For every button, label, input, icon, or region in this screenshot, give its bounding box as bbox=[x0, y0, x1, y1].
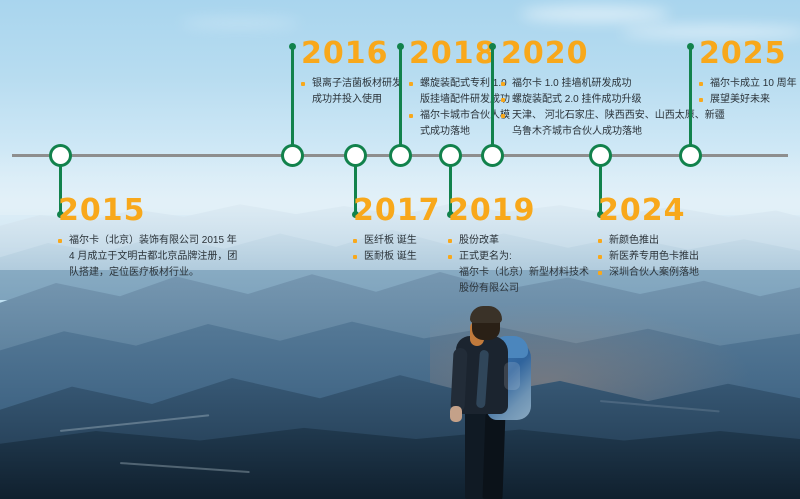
stem-2020 bbox=[491, 46, 494, 148]
list-item: 展望美好未来 bbox=[699, 92, 797, 107]
timeline-node-2019[interactable] bbox=[439, 144, 462, 167]
cloud-shape bbox=[180, 18, 300, 28]
timeline-node-2025[interactable] bbox=[679, 144, 702, 167]
bullet-list-2019: 股份改革 正式更名为: 福尔卡（北京）新型材料技术 股份有限公司 bbox=[448, 233, 589, 296]
timeline-node-2016[interactable] bbox=[281, 144, 304, 167]
list-item: 版挂墙配件研发成功 bbox=[409, 92, 510, 107]
list-item: 深圳合伙人案例落地 bbox=[598, 265, 699, 280]
event-block-2017: 2017 医纤板 诞生 医耐板 诞生 bbox=[353, 196, 441, 265]
year-label-2016: 2016 bbox=[301, 39, 402, 69]
hiker-figure bbox=[432, 300, 550, 499]
bullet-list-2015: 福尔卡（北京）装饰有限公司 2015 年 4 月成立于文明古都北京品牌注册，团 … bbox=[58, 233, 237, 280]
list-item: 医纤板 诞生 bbox=[353, 233, 441, 248]
list-item: 福尔卡（北京）新型材料技术 bbox=[448, 265, 589, 280]
hiker-leg bbox=[482, 412, 505, 499]
list-item: 正式更名为: bbox=[448, 249, 589, 264]
year-label-2019: 2019 bbox=[448, 196, 589, 226]
cloud-shape bbox=[520, 6, 670, 22]
event-block-2015: 2015 福尔卡（北京）装饰有限公司 2015 年 4 月成立于文明古都北京品牌… bbox=[58, 196, 237, 281]
list-item: 福尔卡城市合伙人模 bbox=[409, 108, 510, 123]
stem-cap-2020 bbox=[489, 43, 496, 50]
event-block-2025: 2025 福尔卡成立 10 周年 展望美好未来 bbox=[699, 39, 797, 108]
stem-cap-2018 bbox=[397, 43, 404, 50]
event-block-2016: 2016 银离子洁菌板材研发 成功并投入使用 bbox=[301, 39, 402, 108]
stem-cap-2016 bbox=[289, 43, 296, 50]
list-item: 螺旋装配式专利 1.0 bbox=[409, 76, 510, 91]
timeline-node-2015[interactable] bbox=[49, 144, 72, 167]
hiker-backpack-detail bbox=[504, 362, 520, 390]
timeline-node-2020[interactable] bbox=[481, 144, 504, 167]
year-label-2025: 2025 bbox=[699, 39, 797, 69]
timeline-infographic: 2015 福尔卡（北京）装饰有限公司 2015 年 4 月成立于文明古都北京品牌… bbox=[0, 0, 800, 499]
list-item: 福尔卡成立 10 周年 bbox=[699, 76, 797, 91]
list-item: 新颜色推出 bbox=[598, 233, 699, 248]
list-item: 股份改革 bbox=[448, 233, 589, 248]
bullet-list-2018: 螺旋装配式专利 1.0 版挂墙配件研发成功 福尔卡城市合伙人模 式成功落地 bbox=[409, 76, 510, 139]
stem-2025 bbox=[689, 46, 692, 148]
bullet-list-2024: 新颜色推出 新医养专用色卡推出 深圳合伙人案例落地 bbox=[598, 233, 699, 280]
stem-2018 bbox=[399, 46, 402, 148]
year-label-2015: 2015 bbox=[58, 196, 237, 226]
list-item: 成功并投入使用 bbox=[301, 92, 402, 107]
bullet-list-2016: 银离子洁菌板材研发 成功并投入使用 bbox=[301, 76, 402, 107]
event-block-2019: 2019 股份改革 正式更名为: 福尔卡（北京）新型材料技术 股份有限公司 bbox=[448, 196, 589, 297]
year-label-2017: 2017 bbox=[353, 196, 441, 226]
list-item: 队搭建，定位医疗板材行业。 bbox=[58, 265, 237, 280]
timeline-node-2017[interactable] bbox=[344, 144, 367, 167]
list-item: 医耐板 诞生 bbox=[353, 249, 441, 264]
hiker-hand bbox=[450, 406, 462, 422]
event-block-2024: 2024 新颜色推出 新医养专用色卡推出 深圳合伙人案例落地 bbox=[598, 196, 699, 281]
list-item: 4 月成立于文明古都北京品牌注册，团 bbox=[58, 249, 237, 264]
event-block-2018: 2018 螺旋装配式专利 1.0 版挂墙配件研发成功 福尔卡城市合伙人模 式成功… bbox=[409, 39, 510, 140]
timeline-node-2018[interactable] bbox=[389, 144, 412, 167]
list-item: 新医养专用色卡推出 bbox=[598, 249, 699, 264]
list-item: 福尔卡（北京）装饰有限公司 2015 年 bbox=[58, 233, 237, 248]
list-item: 银离子洁菌板材研发 bbox=[301, 76, 402, 91]
stem-2016 bbox=[291, 46, 294, 148]
bullet-list-2025: 福尔卡成立 10 周年 展望美好未来 bbox=[699, 76, 797, 107]
bullet-list-2017: 医纤板 诞生 医耐板 诞生 bbox=[353, 233, 441, 264]
timeline-node-2024[interactable] bbox=[589, 144, 612, 167]
stem-cap-2025 bbox=[687, 43, 694, 50]
list-item: 式成功落地 bbox=[409, 124, 510, 139]
hiker-cap bbox=[470, 306, 502, 323]
year-label-2024: 2024 bbox=[598, 196, 699, 226]
list-item: 股份有限公司 bbox=[448, 281, 589, 296]
